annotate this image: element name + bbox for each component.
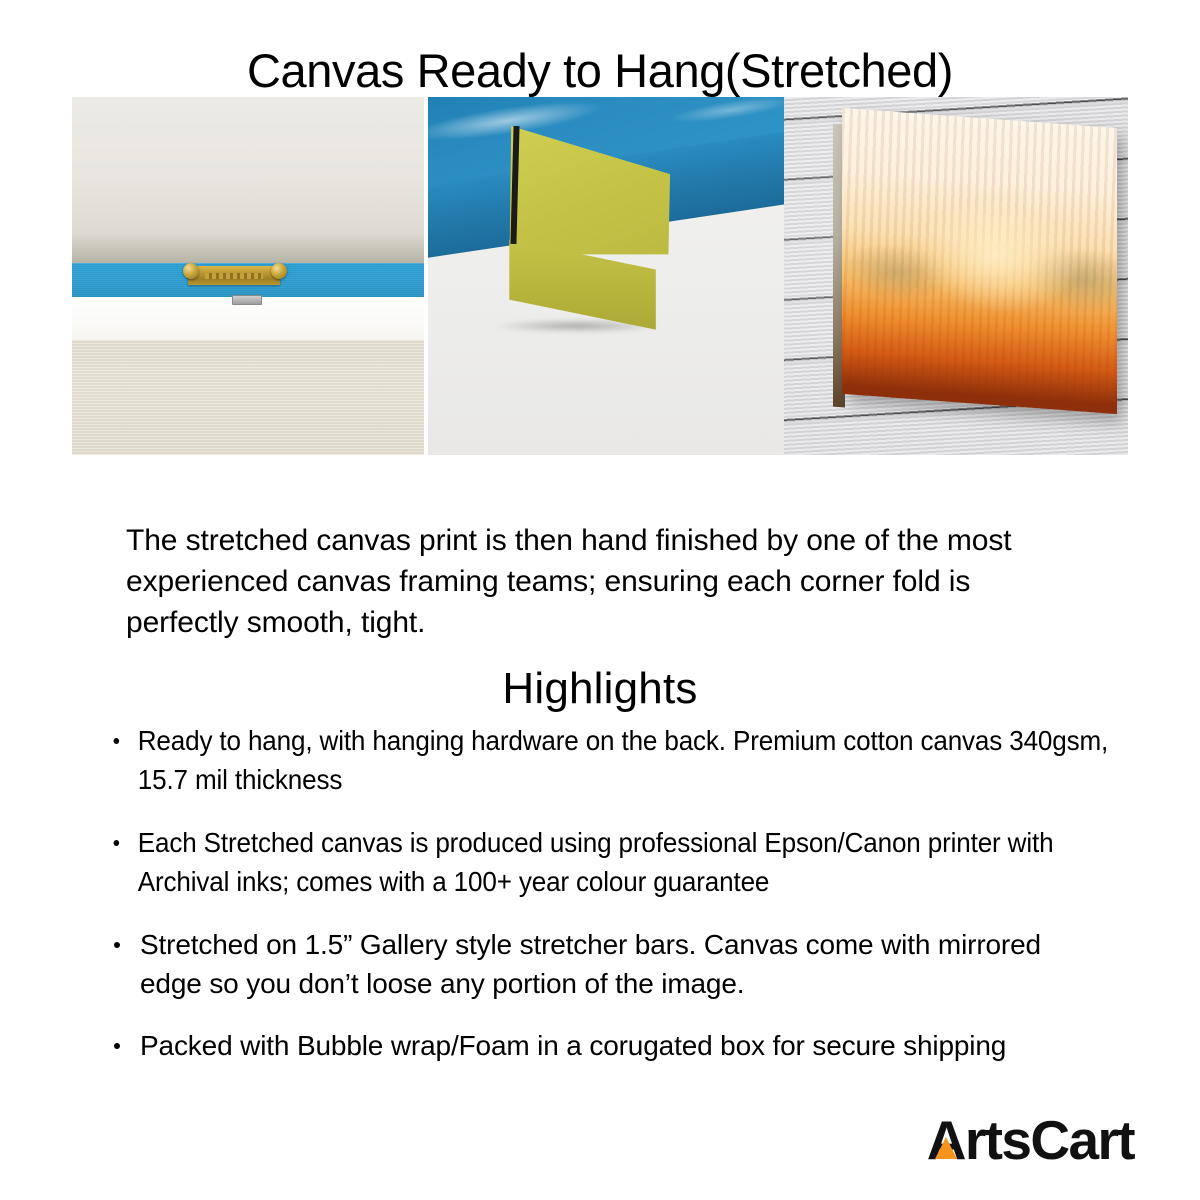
- screw-left-icon: [183, 263, 199, 279]
- list-item: Ready to hang, with hanging hardware on …: [108, 722, 1138, 800]
- page-title: Canvas Ready to Hang(Stretched): [0, 45, 1200, 97]
- list-item: Stretched on 1.5” Gallery style stretche…: [108, 926, 1108, 1004]
- artscart-logo[interactable]: A rtsCart: [927, 1113, 1134, 1168]
- list-item-text: Each Stretched canvas is produced using …: [138, 827, 1054, 897]
- intro-paragraph: The stretched canvas print is then hand …: [126, 521, 1072, 643]
- cream-canvas-band: [72, 340, 424, 455]
- photo-strip: [72, 97, 1128, 455]
- product-info-page: Canvas Ready to Hang(Stretched): [0, 0, 1200, 1200]
- screw-right-icon: [271, 263, 287, 279]
- sunset-landscape-print: [842, 108, 1117, 415]
- bullet-dot-icon: [114, 1043, 120, 1049]
- bullet-dot-icon: [114, 840, 120, 846]
- highlights-heading: Highlights: [0, 664, 1200, 714]
- list-item-text: Packed with Bubble wrap/Foam in a coruga…: [140, 1030, 1006, 1061]
- orange-triangle-icon: [935, 1137, 957, 1159]
- list-item-text: Ready to hang, with hanging hardware on …: [138, 725, 1108, 795]
- metal-tab: [232, 295, 262, 305]
- photo-canvas-back-hanging-hardware: [72, 97, 424, 455]
- sawtooth-hanger-icon: [188, 266, 280, 285]
- highlights-list: Ready to hang, with hanging hardware on …: [108, 722, 1108, 1090]
- list-item: Each Stretched canvas is produced using …: [108, 824, 1138, 902]
- bullet-dot-icon: [114, 738, 120, 744]
- list-item-text: Stretched on 1.5” Gallery style stretche…: [140, 929, 1041, 999]
- bullet-dot-icon: [114, 942, 120, 948]
- logo-letter-a: A: [927, 1113, 965, 1168]
- photo-canvas-mounted-on-wall: [784, 97, 1128, 455]
- list-item: Packed with Bubble wrap/Foam in a coruga…: [108, 1027, 1108, 1066]
- photo-canvas-corner-fold: [428, 97, 784, 455]
- logo-wordmark: rtsCart: [965, 1113, 1134, 1168]
